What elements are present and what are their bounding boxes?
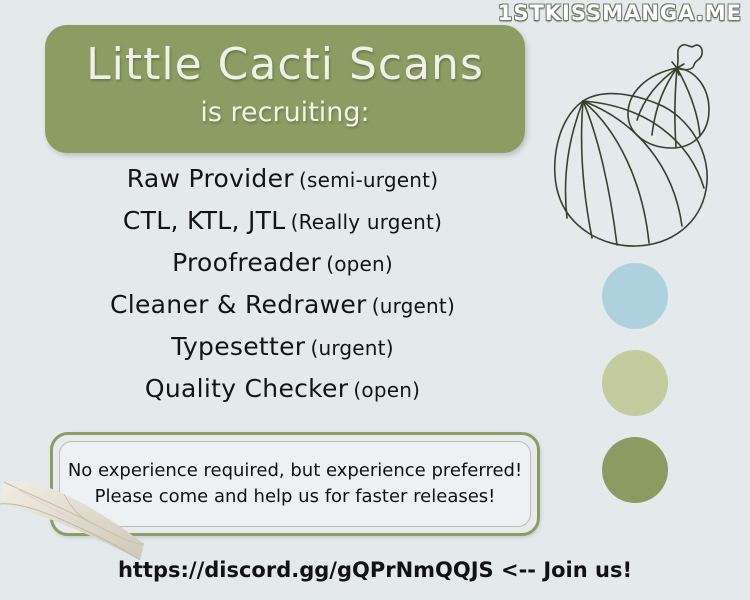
role-status: (Really urgent) — [291, 210, 443, 234]
paper-ribbon-icon — [0, 468, 164, 578]
role-status: (open) — [353, 378, 420, 402]
poster-subtitle: is recruiting: — [45, 97, 525, 128]
role-status: (semi-urgent) — [299, 168, 438, 192]
swatch-sage — [602, 350, 668, 416]
header-banner: Little Cacti Scans is recruiting: — [45, 25, 525, 153]
role-name: Cleaner & Redrawer — [110, 290, 367, 319]
role-name: Proofreader — [172, 248, 321, 277]
recruitment-poster: 1STKISSMANGA.ME Little Cacti Scans is re… — [0, 0, 750, 600]
role-status: (urgent) — [310, 336, 393, 360]
swatch-olive — [602, 437, 668, 503]
role-name: Raw Provider — [127, 164, 294, 193]
poster-title: Little Cacti Scans — [45, 39, 525, 90]
role-status: (urgent) — [372, 294, 455, 318]
role-item: Cleaner & Redrawer (urgent) — [0, 292, 565, 317]
roles-list: Raw Provider (semi-urgent) CTL, KTL, JTL… — [0, 166, 565, 418]
role-item: CTL, KTL, JTL (Really urgent) — [0, 208, 565, 233]
role-item: Typesetter (urgent) — [0, 334, 565, 359]
role-name: CTL, KTL, JTL — [123, 206, 286, 235]
role-name: Typesetter — [171, 332, 305, 361]
role-status: (open) — [326, 252, 393, 276]
cactus-icon — [548, 38, 750, 253]
role-item: Proofreader (open) — [0, 250, 565, 275]
site-watermark: 1STKISSMANGA.ME — [498, 1, 742, 25]
role-item: Raw Provider (semi-urgent) — [0, 166, 565, 191]
role-name: Quality Checker — [145, 374, 348, 403]
swatch-light-blue — [602, 263, 668, 329]
role-item: Quality Checker (open) — [0, 376, 565, 401]
